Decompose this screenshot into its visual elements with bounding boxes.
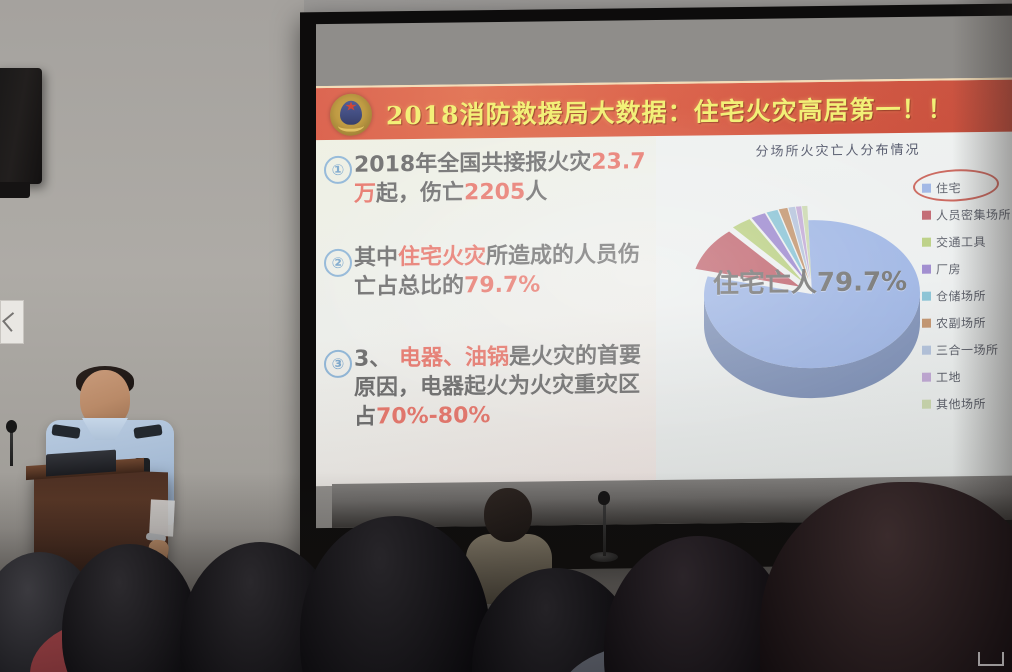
bullet-text: 3、 电器、油锅是火灾的首要原因，电器起火为火灾重灾区占70%-80% [354, 342, 652, 431]
projection-surface: 2018消防救援局大数据：住宅火灾高居第一！！ ① 2018年全国共接报火灾23… [316, 16, 1012, 529]
pie-chart-svg [660, 173, 940, 416]
bullet-number: ③ [324, 350, 352, 378]
legend-swatch [922, 319, 931, 328]
bullet-item: ③ 3、 电器、油锅是火灾的首要原因，电器起火为火灾重灾区占70%-80% [324, 342, 652, 432]
bullet-highlight: 电器、油锅 [399, 345, 509, 371]
bullet-plain: 3、 [354, 347, 399, 373]
podium-microphone-stand [10, 428, 13, 466]
corner-marker [978, 652, 1004, 666]
podium-microphone-icon [6, 420, 17, 433]
legend-swatch [922, 400, 931, 409]
legend-swatch [922, 373, 931, 382]
bullet-item: ② 其中住宅火灾所造成的人员伤亡占总比的79.7% [324, 241, 652, 302]
bullet-highlight: 70%-80% [376, 403, 490, 429]
seated-attendee-head [484, 488, 532, 542]
bullet-number: ② [324, 249, 352, 277]
pie-chart [660, 173, 940, 416]
bullet-highlight: 2205 [464, 179, 525, 205]
bullet-number: ① [324, 156, 352, 184]
bullet-highlight: 住宅火灾 [398, 244, 486, 270]
table-microphone-stand [603, 500, 606, 556]
wall-sign [0, 300, 24, 344]
legend-swatch [922, 238, 931, 247]
slide-body: ① 2018年全国共接报火灾23.7万起，伤亡2205人 ② 其中住宅火灾所造成… [316, 132, 1012, 487]
wall-speaker-icon [0, 68, 42, 184]
legend-swatch [922, 292, 931, 301]
paper-sheet [149, 499, 175, 536]
bullet-item: ① 2018年全国共接报火灾23.7万起，伤亡2205人 [324, 148, 652, 209]
legend-swatch [922, 265, 931, 274]
bullet-text: 2018年全国共接报火灾23.7万起，伤亡2205人 [354, 148, 652, 209]
bullet-plain: 人 [525, 179, 547, 204]
fire-rescue-emblem-icon [330, 93, 372, 136]
bullet-highlight: 79.7% [464, 272, 540, 298]
slide-title: 2018消防救援局大数据：住宅火灾高居第一！！ [372, 89, 1012, 133]
lecture-hall-photo: 2018消防救援局大数据：住宅火灾高居第一！！ ① 2018年全国共接报火灾23… [0, 0, 1012, 672]
table-microphone-icon [598, 491, 610, 505]
bullet-text: 其中住宅火灾所造成的人员伤亡占总比的79.7% [354, 241, 652, 302]
presentation-slide: 2018消防救援局大数据：住宅火灾高居第一！！ ① 2018年全国共接报火灾23… [316, 78, 1012, 487]
bullet-plain: 2018年全国共接报火灾 [354, 150, 591, 178]
legend-swatch [922, 346, 931, 355]
bullet-plain: 其中 [354, 245, 398, 271]
bullet-plain: 起，伤亡 [376, 180, 464, 206]
slide-bullet-column: ① 2018年全国共接报火灾23.7万起，伤亡2205人 ② 其中住宅火灾所造成… [316, 136, 656, 486]
legend-swatch [922, 211, 931, 220]
